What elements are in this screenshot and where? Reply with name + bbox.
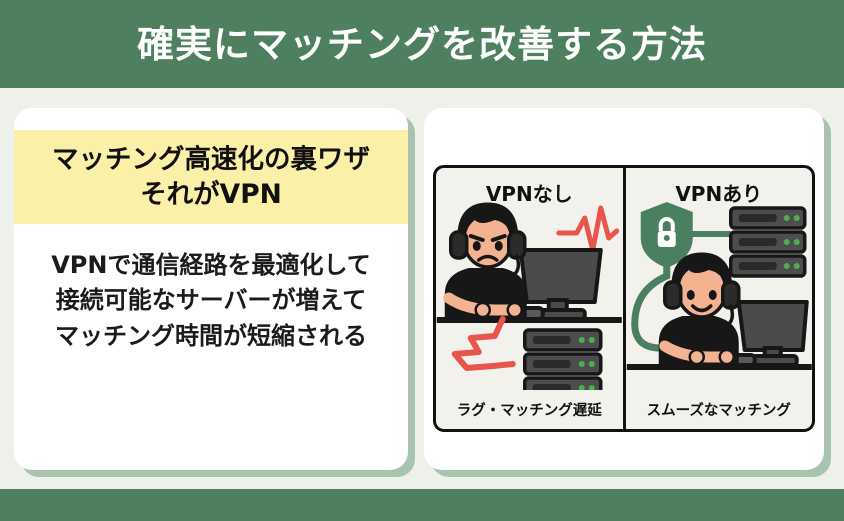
poster-stage: 確実にマッチングを改善する方法 マッチング高速化の裏ワザ それがVPN VPNで… bbox=[0, 0, 844, 521]
body-line-3: マッチング時間が短縮される bbox=[55, 319, 367, 354]
comparison-card: VPNなし bbox=[424, 108, 824, 470]
headline-line-1: マッチング高速化の裏ワザ bbox=[52, 142, 370, 177]
comparison-half-with-vpn: VPNあり bbox=[626, 168, 813, 429]
explanation-card: マッチング高速化の裏ワザ それがVPN VPNで通信経路を最適化して 接続可能な… bbox=[14, 108, 408, 470]
body-line-2: 接続可能なサーバーが増えて bbox=[56, 283, 367, 318]
header-bar: 確実にマッチングを改善する方法 bbox=[0, 0, 844, 88]
footer-bar bbox=[0, 489, 844, 521]
explanation-body: VPNで通信経路を最適化して 接続可能なサーバーが増えて マッチング時間が短縮さ… bbox=[14, 248, 408, 354]
body-line-1: VPNで通信経路を最適化して bbox=[51, 248, 371, 283]
comparison-panel: VPNなし bbox=[433, 165, 815, 432]
comparison-half-without-vpn: VPNなし bbox=[436, 168, 626, 429]
happy-gamer-with-vpn-shield-illustration bbox=[626, 198, 813, 390]
headline-line-2: それがVPN bbox=[140, 177, 282, 212]
angry-gamer-with-lag-illustration bbox=[436, 198, 623, 390]
headline-highlight-band: マッチング高速化の裏ワザ それがVPN bbox=[14, 130, 408, 224]
page-title: 確実にマッチングを改善する方法 bbox=[137, 26, 707, 63]
comparison-caption-with-vpn: スムーズなマッチング bbox=[626, 399, 813, 420]
comparison-caption-without-vpn: ラグ・マッチング遅延 bbox=[436, 399, 623, 420]
